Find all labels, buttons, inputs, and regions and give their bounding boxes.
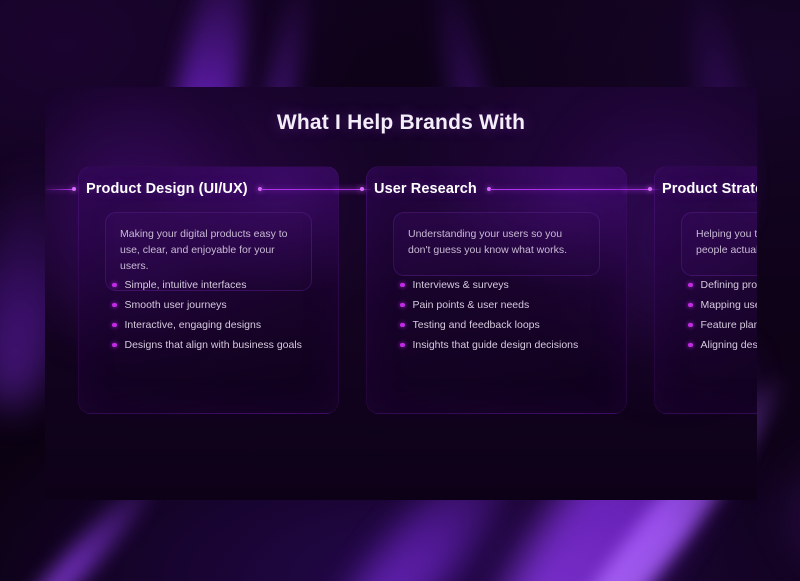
bullet-dot-icon (688, 283, 693, 288)
card-bullet-list: Defining product direction Mapping user … (688, 275, 757, 355)
bullet-dot-icon (112, 343, 117, 348)
bullet-dot-icon (112, 283, 117, 288)
bullet-label: Testing and feedback loops (413, 319, 540, 331)
decorative-line-left-icon (334, 189, 361, 190)
list-item: Interviews & surveys (400, 275, 615, 295)
card-description: Making your digital products easy to use… (120, 227, 297, 274)
card-description-box: Helping you turn ideas into products peo… (681, 212, 757, 276)
card-title: User Research (364, 181, 487, 197)
decorative-line-left-icon (622, 189, 649, 190)
bullet-label: Simple, intuitive interfaces (125, 279, 247, 291)
section-panel: What I Help Brands With Product Design (… (45, 87, 757, 500)
bullet-dot-icon (400, 303, 405, 308)
list-item: Insights that guide design decisions (400, 335, 615, 355)
service-card[interactable]: Product Strategy Helping you turn ideas … (654, 166, 757, 414)
card-title: Product Design (UI/UX) (76, 181, 258, 197)
list-item: Feature planning (688, 315, 757, 335)
bullet-dot-icon (112, 303, 117, 308)
list-item: Pain points & user needs (400, 295, 615, 315)
service-card[interactable]: User Research Understanding your users s… (366, 166, 627, 414)
card-header: Product Strategy (622, 178, 757, 200)
list-item: Designs that align with business goals (112, 335, 327, 355)
bullet-label: Interviews & surveys (413, 279, 509, 291)
bullet-dot-icon (688, 323, 693, 328)
service-card[interactable]: Product Design (UI/UX) Making your digit… (78, 166, 339, 414)
list-item: Defining product direction (688, 275, 757, 295)
service-cards-row: Product Design (UI/UX) Making your digit… (78, 166, 757, 414)
bullet-dot-icon (688, 303, 693, 308)
bullet-dot-icon (400, 343, 405, 348)
bullet-label: Pain points & user needs (413, 299, 530, 311)
bullet-label: Mapping user flows (701, 299, 758, 311)
bullet-label: Insights that guide design decisions (413, 339, 579, 351)
section-title: What I Help Brands With (45, 111, 757, 135)
card-header: User Research (334, 178, 659, 200)
list-item: Interactive, engaging designs (112, 315, 327, 335)
bullet-dot-icon (400, 283, 405, 288)
bullet-dot-icon (400, 323, 405, 328)
card-description: Helping you turn ideas into products peo… (696, 227, 757, 259)
card-bullet-list: Interviews & surveys Pain points & user … (400, 275, 615, 355)
list-item: Aligning design with goals (688, 335, 757, 355)
card-description: Understanding your users so you don't gu… (408, 227, 585, 259)
list-item: Mapping user flows (688, 295, 757, 315)
bullet-label: Smooth user journeys (125, 299, 227, 311)
list-item: Simple, intuitive interfaces (112, 275, 327, 295)
list-item: Testing and feedback loops (400, 315, 615, 335)
bullet-label: Feature planning (701, 319, 758, 331)
card-bullet-list: Simple, intuitive interfaces Smooth user… (112, 275, 327, 355)
bullet-label: Defining product direction (701, 279, 758, 291)
card-description-box: Understanding your users so you don't gu… (393, 212, 600, 276)
bullet-label: Designs that align with business goals (125, 339, 302, 351)
decorative-line-left-icon (46, 189, 73, 190)
card-header: Product Design (UI/UX) (46, 178, 371, 200)
bullet-dot-icon (112, 323, 117, 328)
card-title: Product Strategy (652, 181, 757, 197)
bullet-dot-icon (688, 343, 693, 348)
bullet-label: Interactive, engaging designs (125, 319, 262, 331)
bullet-label: Aligning design with goals (701, 339, 758, 351)
list-item: Smooth user journeys (112, 295, 327, 315)
